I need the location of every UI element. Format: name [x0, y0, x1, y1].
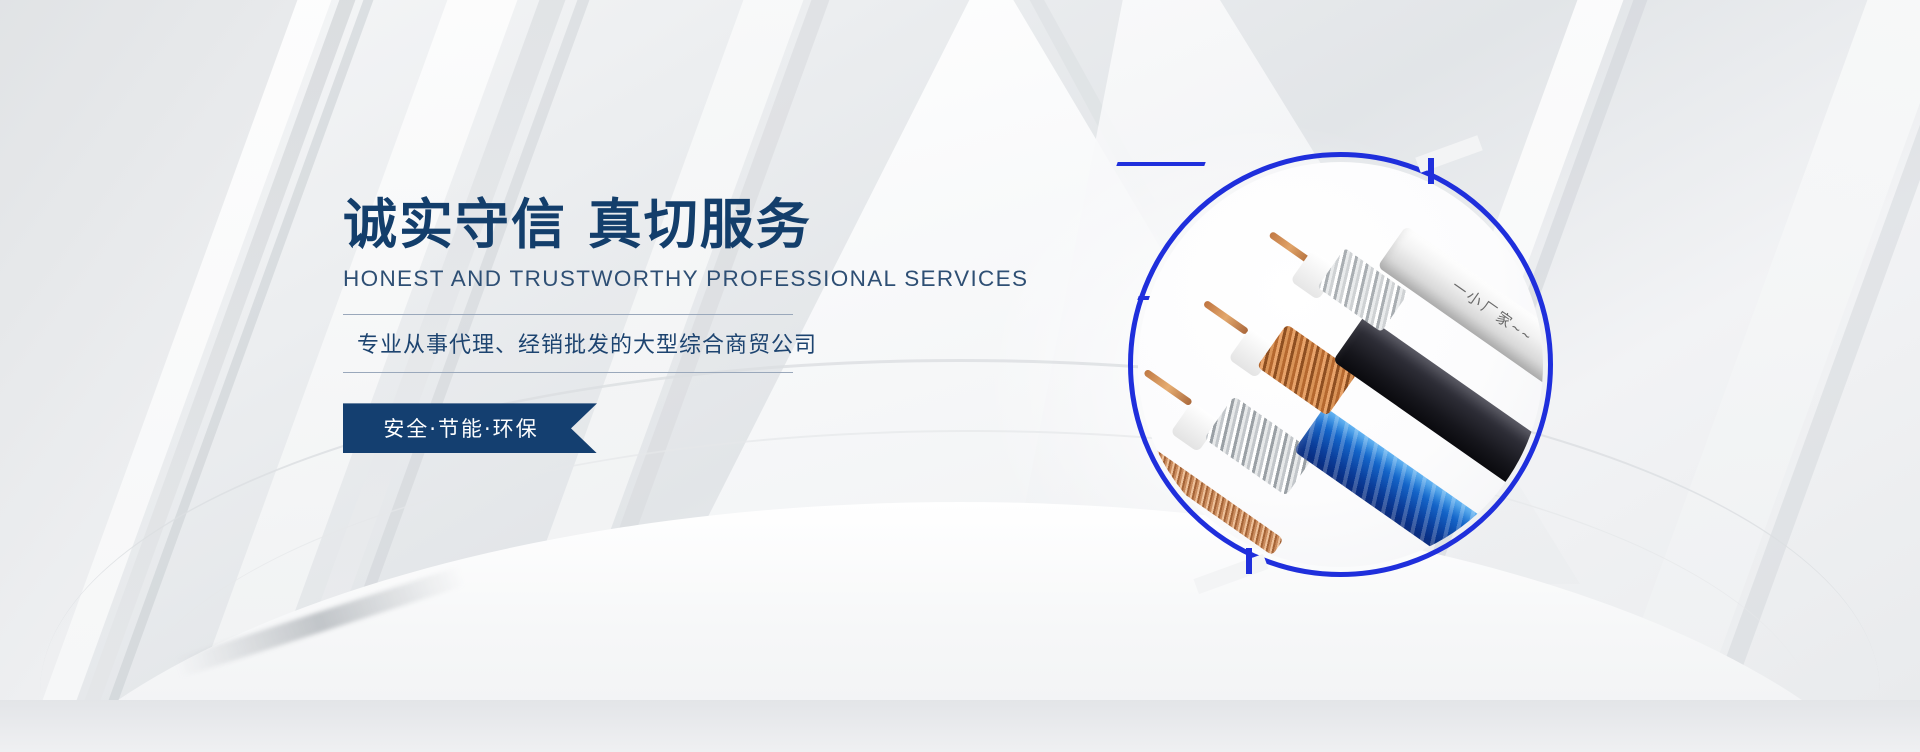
banner-copy: 诚实守信 真切服务 HONEST AND TRUSTWORTHY PROFESS… [343, 196, 863, 453]
hero-banner: 诚实守信 真切服务 HONEST AND TRUSTWORTHY PROFESS… [0, 0, 1920, 752]
medallion-ring [1128, 152, 1553, 577]
product-medallion: 一小厂家~~ [1128, 152, 1553, 577]
medallion-ring-tick-top [1428, 158, 1434, 184]
feature-ribbon-badge[interactable]: 安全·节能·环保 [343, 403, 597, 453]
background-artwork [0, 0, 1920, 752]
feature-ribbon-label: 安全·节能·环保 [383, 413, 538, 443]
background-base-band [0, 700, 1920, 752]
page-title: 诚实守信 真切服务 [343, 196, 863, 254]
medallion-ring-tick-bottom [1246, 548, 1252, 574]
subtitle-english: HONEST AND TRUSTWORTHY PROFESSIONAL SERV… [343, 266, 863, 292]
subtitle-chinese: 专业从事代理、经销批发的大型综合商贸公司 [343, 315, 863, 372]
divider-bottom [343, 372, 793, 373]
